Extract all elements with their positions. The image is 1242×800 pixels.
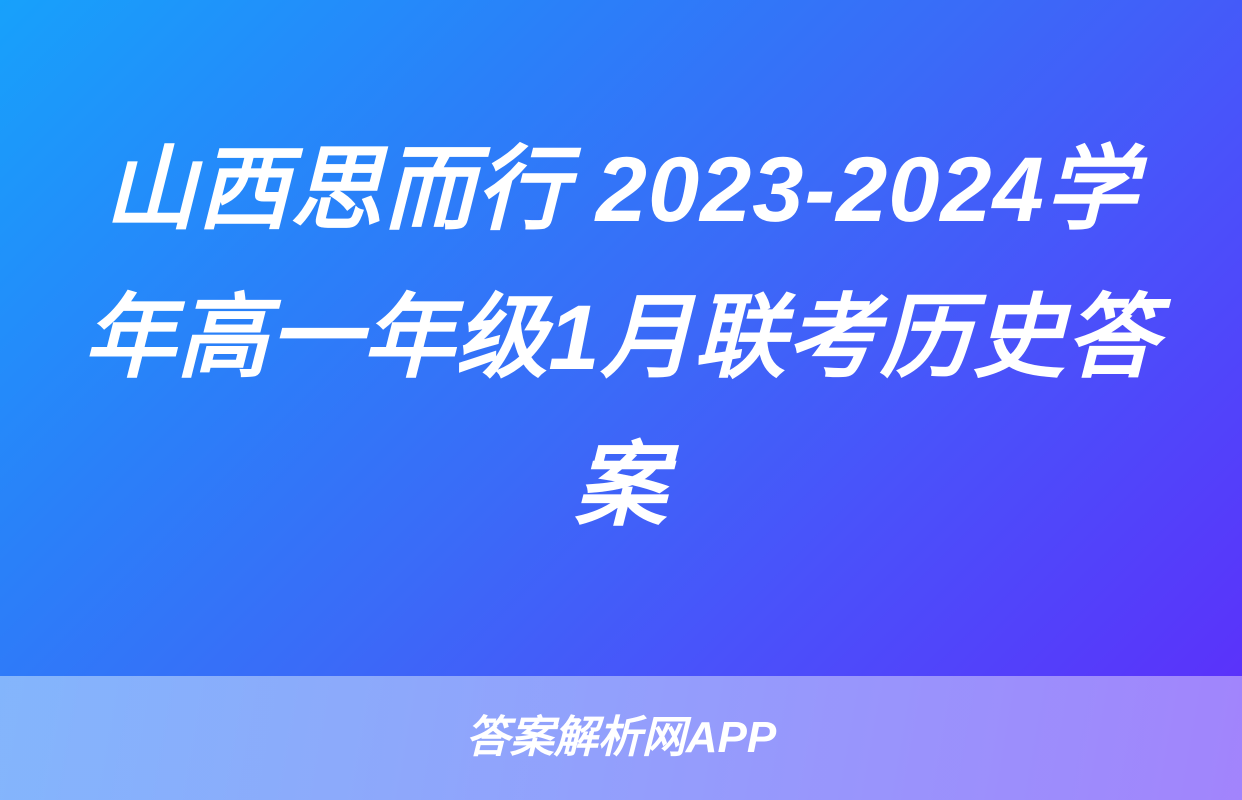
watermark-footer-band: 答案解析网APP xyxy=(0,676,1242,800)
page-title: 山西思而行 2023-2024学年高一年级1月联考历史答案 xyxy=(80,116,1162,560)
watermark-text: 答案解析网APP xyxy=(466,712,776,764)
answer-cover-card: 山西思而行 2023-2024学年高一年级1月联考历史答案 答案解析网APP xyxy=(0,0,1242,800)
title-area: 山西思而行 2023-2024学年高一年级1月联考历史答案 xyxy=(0,0,1242,676)
